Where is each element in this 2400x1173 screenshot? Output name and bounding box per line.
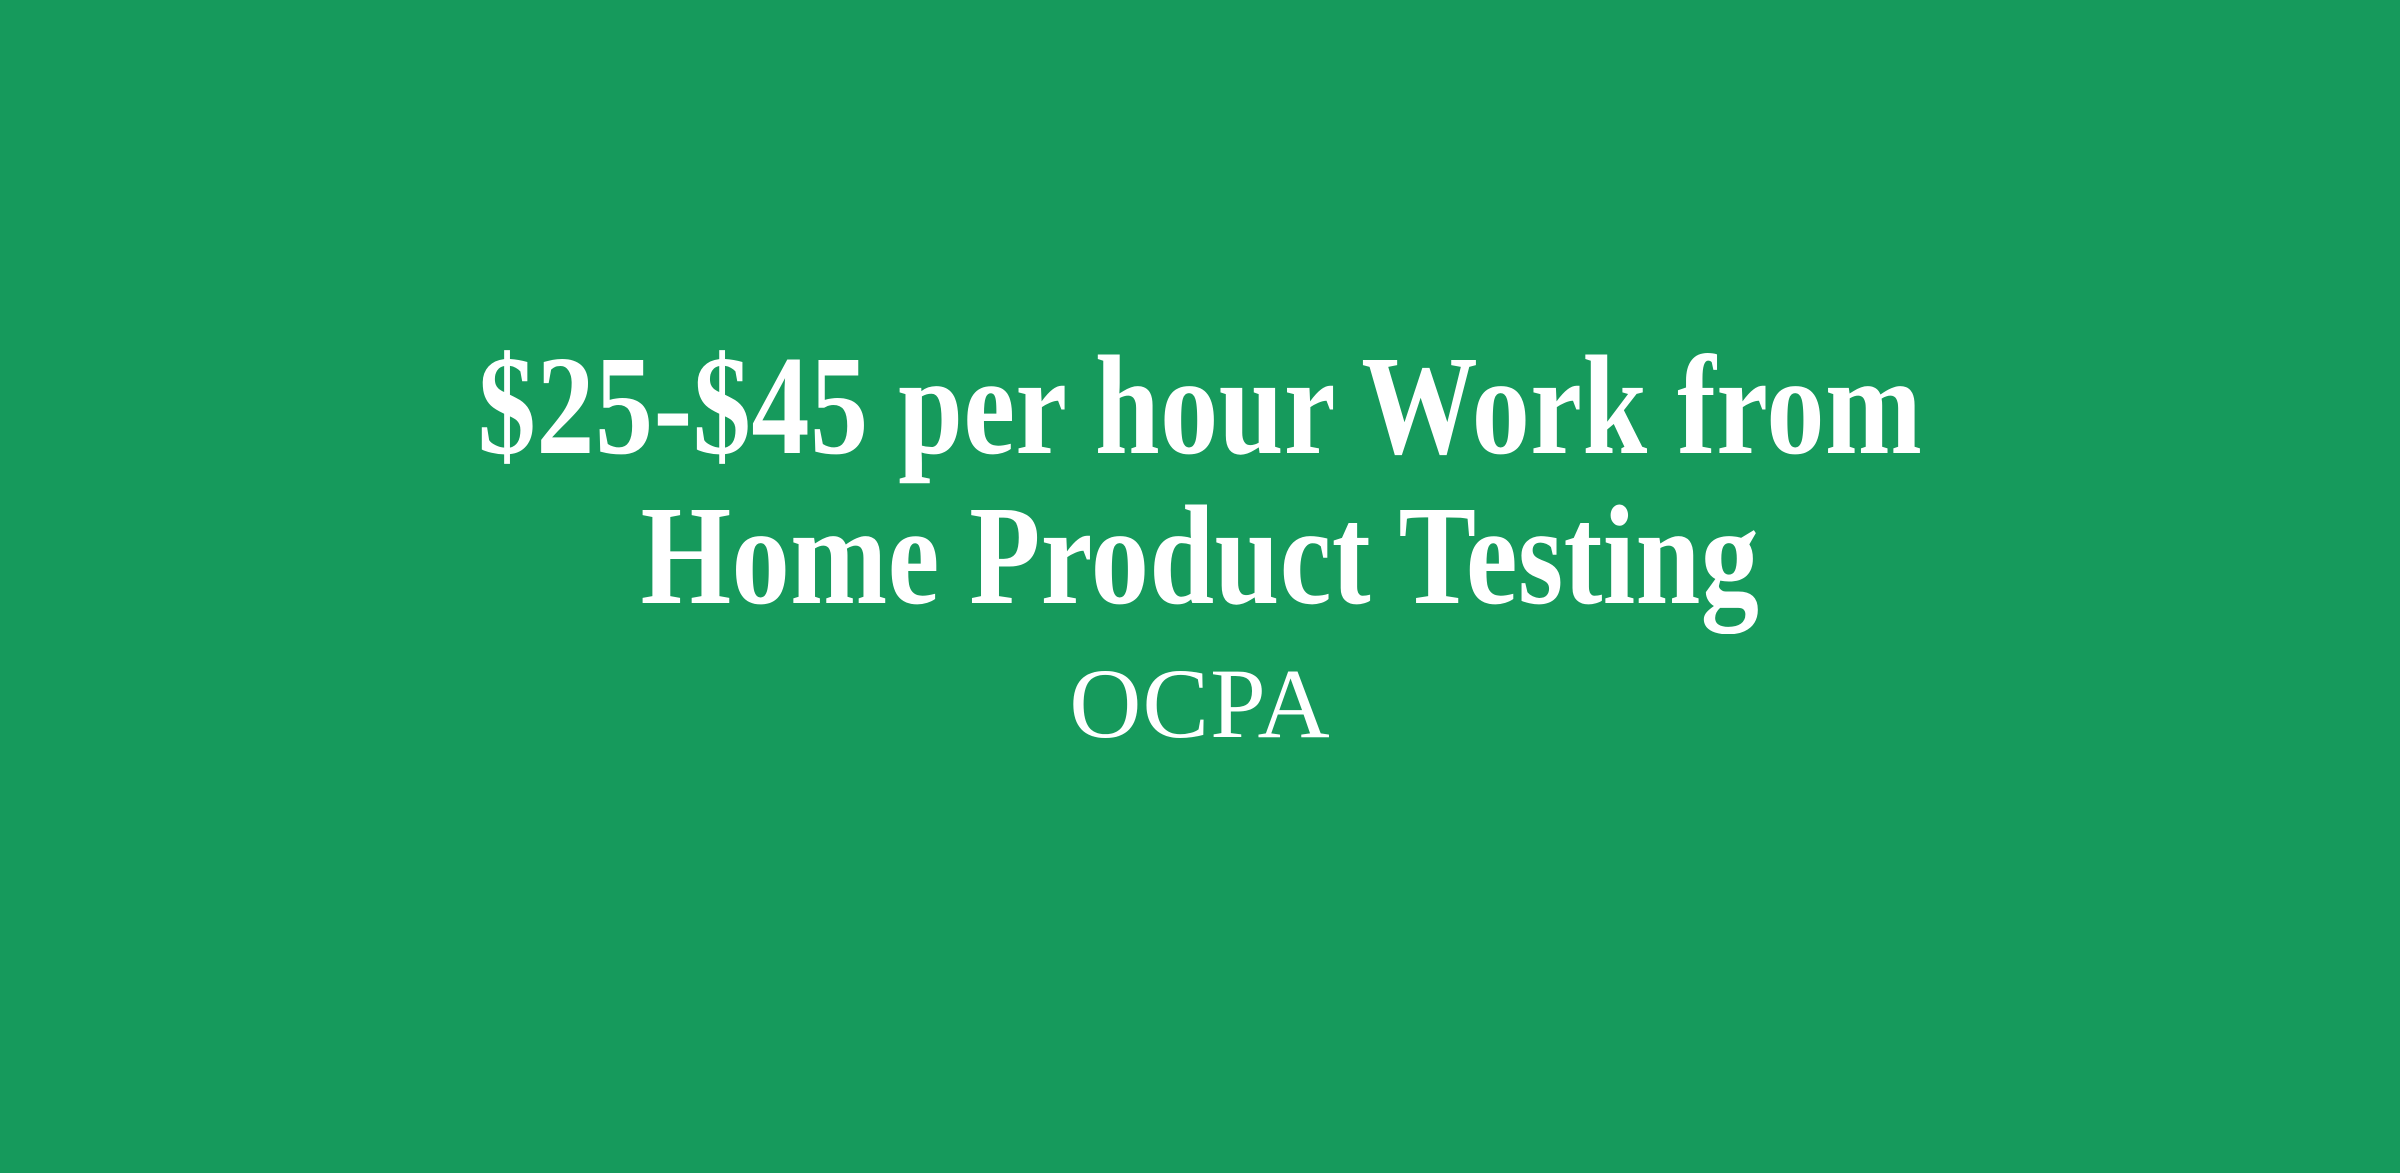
page-title-line-1: $25-$45 per hour Work from	[380, 330, 2020, 480]
page-title-line-2: Home Product Testing	[380, 480, 2020, 630]
card-content: $25-$45 per hour Work fromHome Product T…	[0, 0, 2400, 760]
page-title: $25-$45 per hour Work fromHome Product T…	[216, 330, 2184, 630]
social-share-card: $25-$45 per hour Work fromHome Product T…	[0, 0, 2400, 1173]
card-subtitle: OCPA	[0, 630, 2400, 760]
